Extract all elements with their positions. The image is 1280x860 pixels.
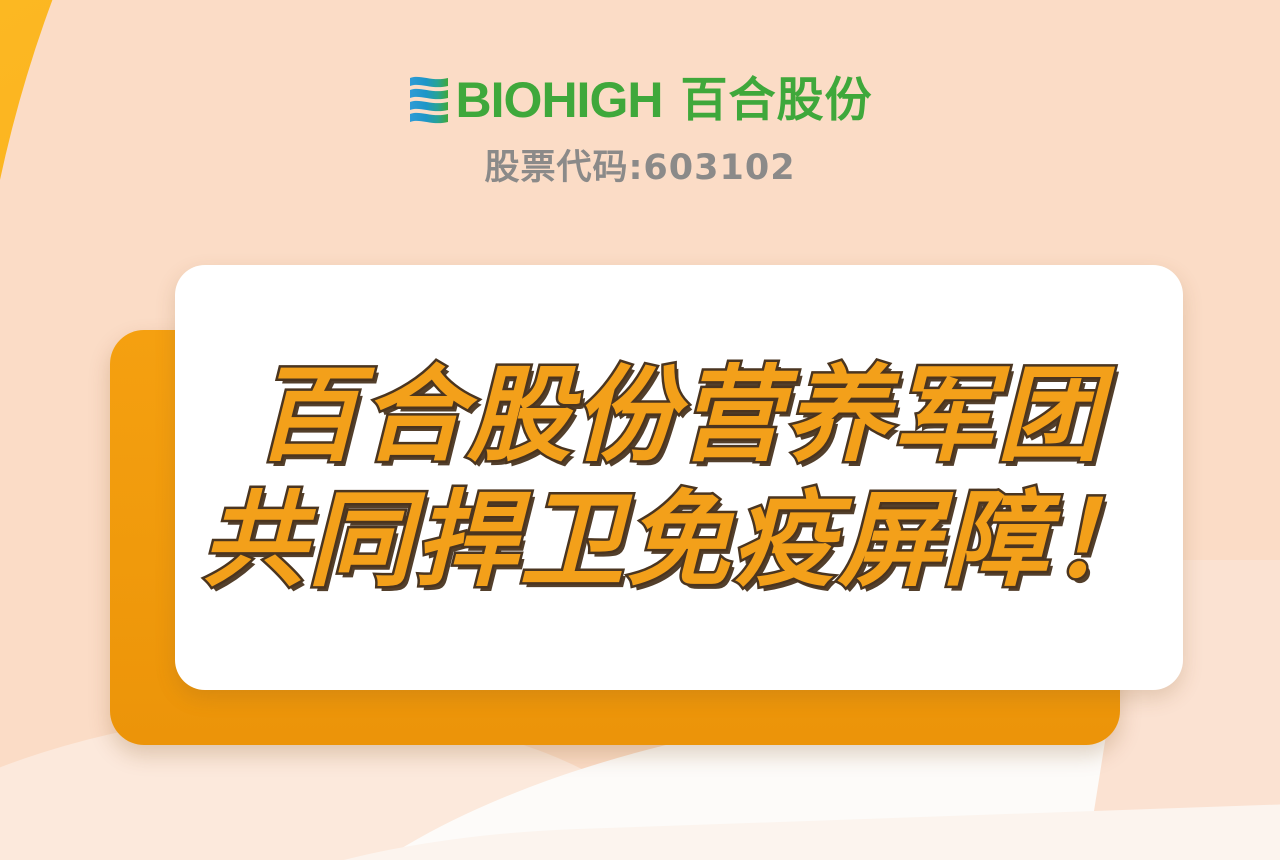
brand-chinese-text: 百合股份 — [680, 77, 872, 124]
stock-ticker-label: 股票代码:603102 — [484, 139, 795, 190]
brand-latin-text: BIOHIGH — [456, 75, 663, 125]
brand-lockup: BIOHIGH 百合股份 — [408, 72, 873, 128]
brand-header: BIOHIGH 百合股份 股票代码:603102 — [0, 72, 1280, 190]
poster-canvas: BIOHIGH 百合股份 股票代码:603102 百合股份营养军团 共同捍卫免疫… — [0, 0, 1280, 860]
headline-card: 百合股份营养军团 共同捍卫免疫屏障！ — [175, 265, 1183, 690]
headline-line-2: 共同捍卫免疫屏障！ — [202, 481, 1156, 600]
headline-line-1: 百合股份营养军团 — [255, 356, 1103, 475]
wave-flag-icon — [408, 75, 454, 125]
